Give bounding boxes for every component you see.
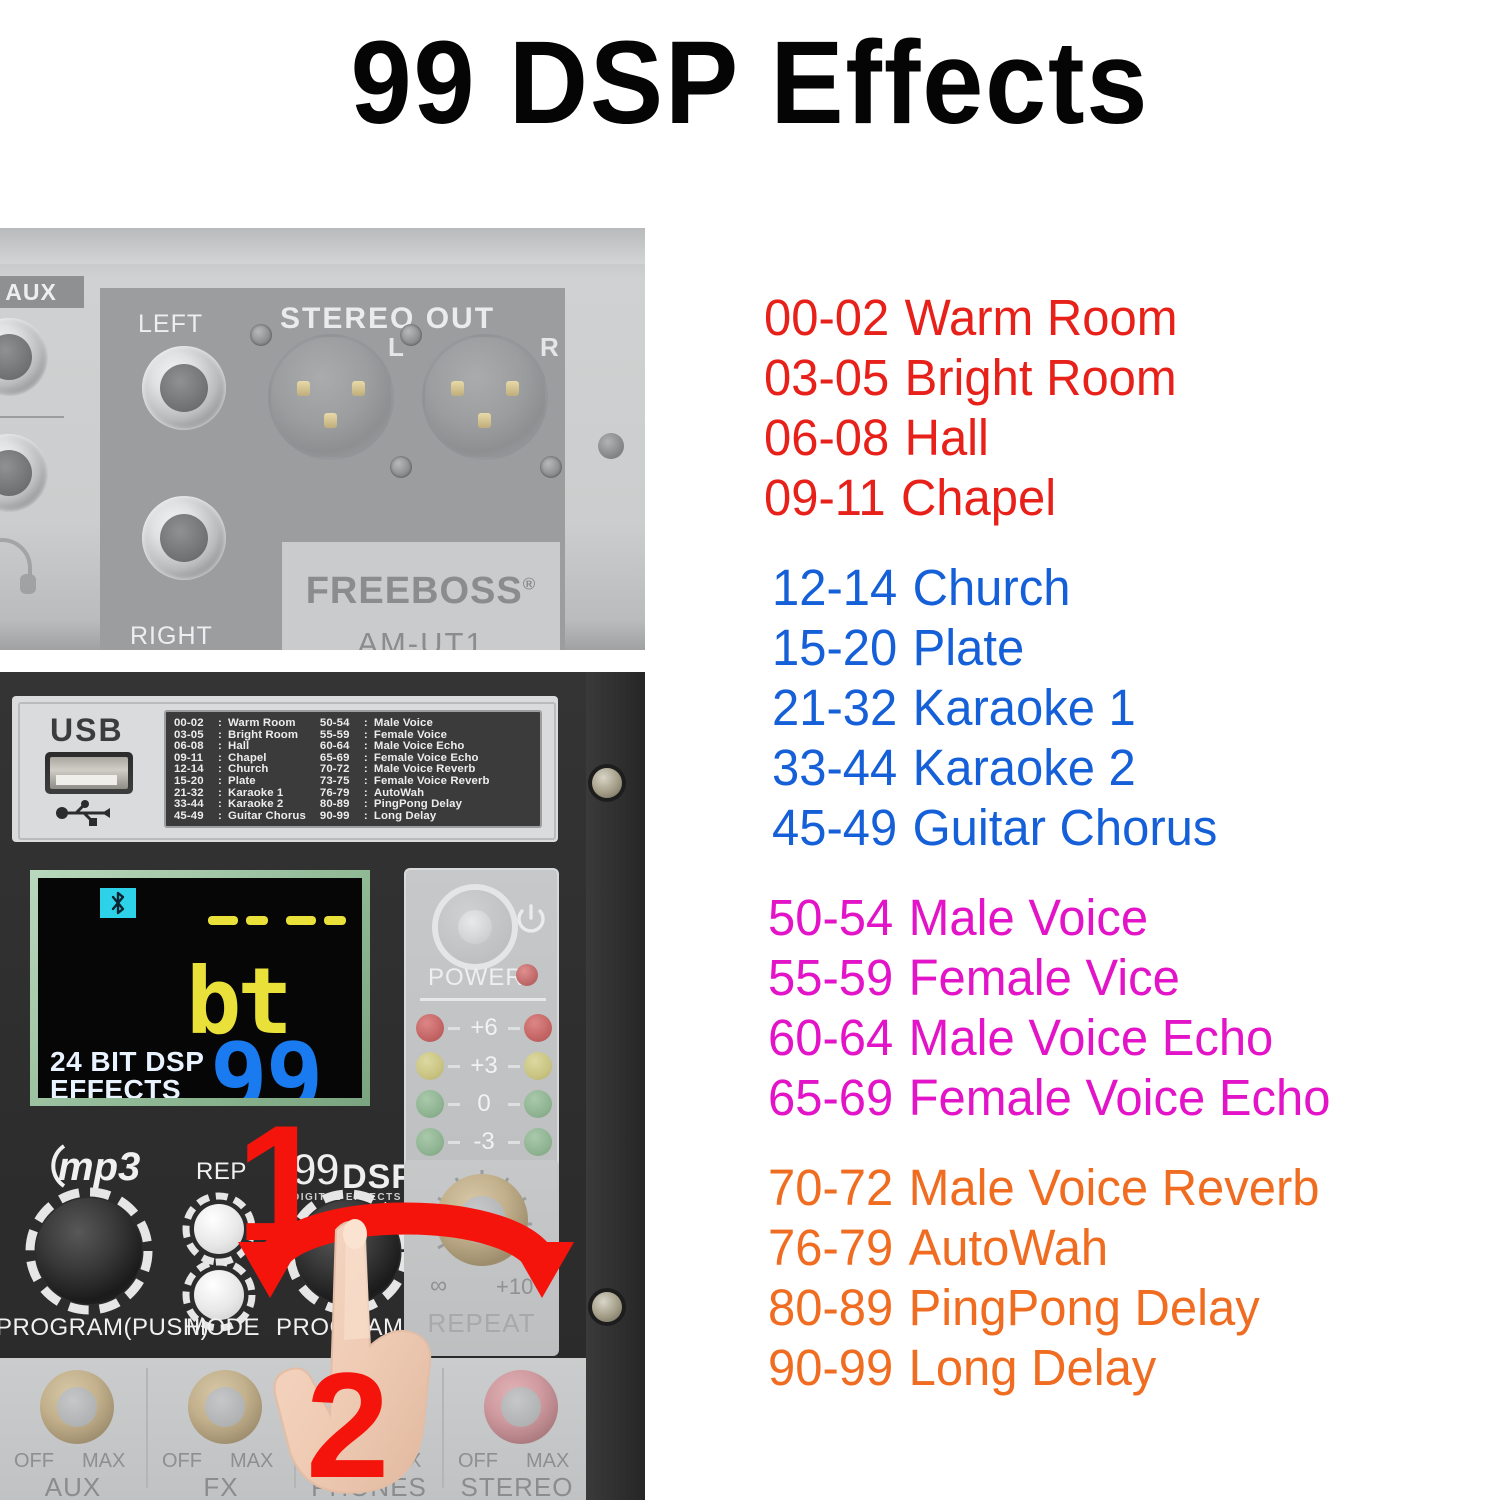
usb-legend-plate: USB 00-02:Warm Room 03-05:Bright Room 06… xyxy=(12,696,558,842)
panel-top-edge xyxy=(0,228,645,264)
vu-level-row: +6 xyxy=(416,1010,552,1046)
vu-led-right xyxy=(524,1090,552,1118)
divider xyxy=(0,416,64,418)
svg-text:mp3: mp3 xyxy=(58,1145,140,1189)
effect-row: 06-08Hall xyxy=(764,408,1471,468)
left-output-jack[interactable] xyxy=(142,346,226,430)
vu-level-row: 0 xyxy=(416,1086,552,1122)
xlr-screw xyxy=(390,456,412,478)
effect-row: 12-14Church xyxy=(772,558,1471,618)
lcd-display: bt 99 24 BIT DSP EFFECTS xyxy=(38,878,362,1098)
effect-row: 90-99Long Delay xyxy=(768,1338,1471,1398)
vu-led-left xyxy=(416,1014,444,1042)
vu-led-left xyxy=(416,1052,444,1080)
power-label: POWER xyxy=(428,964,524,992)
aux-jack-1[interactable] xyxy=(0,318,48,396)
effects-group-spaces: 12-14Church 15-20Plate 21-32Karaoke 1 33… xyxy=(758,558,1500,858)
bluetooth-icon xyxy=(100,888,136,918)
vu-level-label: -3 xyxy=(464,1128,504,1156)
lcd-caption-line2: EFFECTS xyxy=(50,1076,181,1098)
chassis-screw xyxy=(598,433,624,459)
vu-level-label: 0 xyxy=(464,1090,504,1118)
vu-led-right xyxy=(524,1014,552,1042)
lcd-dash-segment xyxy=(208,916,238,925)
preset-legend-table: 00-02:Warm Room 03-05:Bright Room 06-08:… xyxy=(164,710,542,828)
usb-symbol-icon xyxy=(56,800,118,826)
lcd-caption-line1: 24 BIT DSP xyxy=(50,1048,204,1076)
aux-jack-2[interactable] xyxy=(0,434,48,512)
knob-min-label: OFF xyxy=(14,1450,54,1473)
vu-led-left xyxy=(416,1128,444,1156)
aux-jack-column: AUX xyxy=(0,276,88,606)
program-push-label: PROGRAM(PUSH) xyxy=(0,1314,209,1342)
repeat-max-label: +10 xyxy=(496,1274,533,1300)
effects-group-reverb-rooms: 00-02Warm Room 03-05Bright Room 06-08Hal… xyxy=(758,288,1500,528)
effect-row: 00-02Warm Room xyxy=(764,288,1471,348)
headphones-icon xyxy=(0,538,40,594)
lcd-preset-number: 99 xyxy=(210,1030,322,1098)
page-title: 99 DSP Effects xyxy=(53,22,1448,146)
usb-port[interactable] xyxy=(45,752,133,794)
effects-group-voice: 50-54Male Voice 55-59Female Vice 60-64Ma… xyxy=(758,888,1500,1128)
xlr-l-label: L xyxy=(388,332,404,363)
program-push-knob-ring xyxy=(22,1184,156,1318)
effect-row: 65-69Female Voice Echo xyxy=(768,1068,1471,1128)
effect-row: 76-79AutoWah xyxy=(768,1218,1471,1278)
rear-panel-photo: AUX STEREO OUT LEFT RIGHT xyxy=(0,228,645,650)
effect-row: 70-72Male Voice Reverb xyxy=(768,1158,1471,1218)
right-output-label: RIGHT xyxy=(130,622,213,650)
chassis-screw xyxy=(592,1292,622,1322)
stereo-out-label: STEREO OUT xyxy=(280,302,495,336)
effect-row: 50-54Male Voice xyxy=(768,888,1471,948)
xlr-r-label: R xyxy=(540,332,559,363)
xlr-screw xyxy=(250,324,272,346)
preset-legend-row: 45-49:Guitar Chorus xyxy=(174,811,306,823)
lcd-dash-segment xyxy=(246,916,268,925)
effect-row: 33-44Karaoke 2 xyxy=(772,738,1471,798)
volume-cell-aux: OFF MAX AUX xyxy=(0,1358,146,1500)
effects-group-delay: 70-72Male Voice Reverb 76-79AutoWah 80-8… xyxy=(758,1158,1500,1398)
effect-row: 15-20Plate xyxy=(772,618,1471,678)
preset-legend-column-left: 00-02:Warm Room 03-05:Bright Room 06-08:… xyxy=(174,718,306,820)
mode-label: MODE xyxy=(186,1314,260,1342)
vu-meter-panel: POWER +6 +3 0 -3 xyxy=(404,868,559,1198)
power-button[interactable] xyxy=(432,884,518,970)
chassis-screw xyxy=(592,768,622,798)
divider xyxy=(420,998,546,1001)
vu-level-row: -3 xyxy=(416,1124,552,1160)
vu-level-row: +3 xyxy=(416,1048,552,1084)
left-output-label: LEFT xyxy=(138,310,203,339)
power-icon xyxy=(516,902,546,936)
front-panel-right-edge xyxy=(586,672,645,1500)
step-2-marker: 2 xyxy=(306,1355,389,1495)
aux-volume-knob[interactable] xyxy=(40,1370,114,1444)
aux-label: AUX xyxy=(0,276,84,308)
fx-volume-knob[interactable] xyxy=(188,1370,262,1444)
effect-row: 60-64Male Voice Echo xyxy=(768,1008,1471,1068)
knob-min-label: OFF xyxy=(162,1450,202,1473)
lcd-dash-segment xyxy=(324,916,346,925)
usb-label: USB xyxy=(50,712,124,749)
infographic-page: 99 DSP Effects AUX STEREO OUT LEFT RIGHT xyxy=(0,0,1500,1500)
effects-list: 00-02Warm Room 03-05Bright Room 06-08Hal… xyxy=(758,288,1500,1398)
effect-row: 21-32Karaoke 1 xyxy=(772,678,1471,738)
power-led xyxy=(516,964,538,986)
vu-led-left xyxy=(416,1090,444,1118)
effect-row: 09-11Chapel xyxy=(764,468,1471,528)
effect-row: 45-49Guitar Chorus xyxy=(772,798,1471,858)
model-number: AM-UT1 xyxy=(282,626,560,650)
brand-name: FREEBOSS® xyxy=(282,570,560,613)
stereo-out-plate: STEREO OUT LEFT RIGHT L R FREEBOSS® AM-U… xyxy=(100,288,565,650)
vu-level-label: +3 xyxy=(464,1052,504,1080)
vu-led-right xyxy=(524,1128,552,1156)
xlr-screw xyxy=(540,456,562,478)
lcd-display-frame: bt 99 24 BIT DSP EFFECTS xyxy=(30,870,370,1106)
effect-row: 03-05Bright Room xyxy=(764,348,1471,408)
xlr-connector-right[interactable] xyxy=(422,334,548,460)
mode-button[interactable] xyxy=(194,1270,244,1320)
vu-level-label: +6 xyxy=(464,1014,504,1042)
effect-row: 80-89PingPong Delay xyxy=(768,1278,1471,1338)
lcd-dash-segment xyxy=(286,916,316,925)
preset-legend-row: 90-99:Long Delay xyxy=(320,811,490,823)
right-output-jack[interactable] xyxy=(142,496,226,580)
brand-plate: FREEBOSS® AM-UT1 xyxy=(282,542,560,650)
knob-max-label: MAX xyxy=(82,1450,125,1473)
knob-max-label: MAX xyxy=(526,1450,569,1473)
xlr-connector-left[interactable] xyxy=(268,334,394,460)
vu-led-right xyxy=(524,1052,552,1080)
preset-legend-column-right: 50-54:Male Voice 55-59:Female Voice 60-6… xyxy=(320,718,490,820)
effect-row: 55-59Female Vice xyxy=(768,948,1471,1008)
aux-volume-label: AUX xyxy=(0,1472,146,1503)
